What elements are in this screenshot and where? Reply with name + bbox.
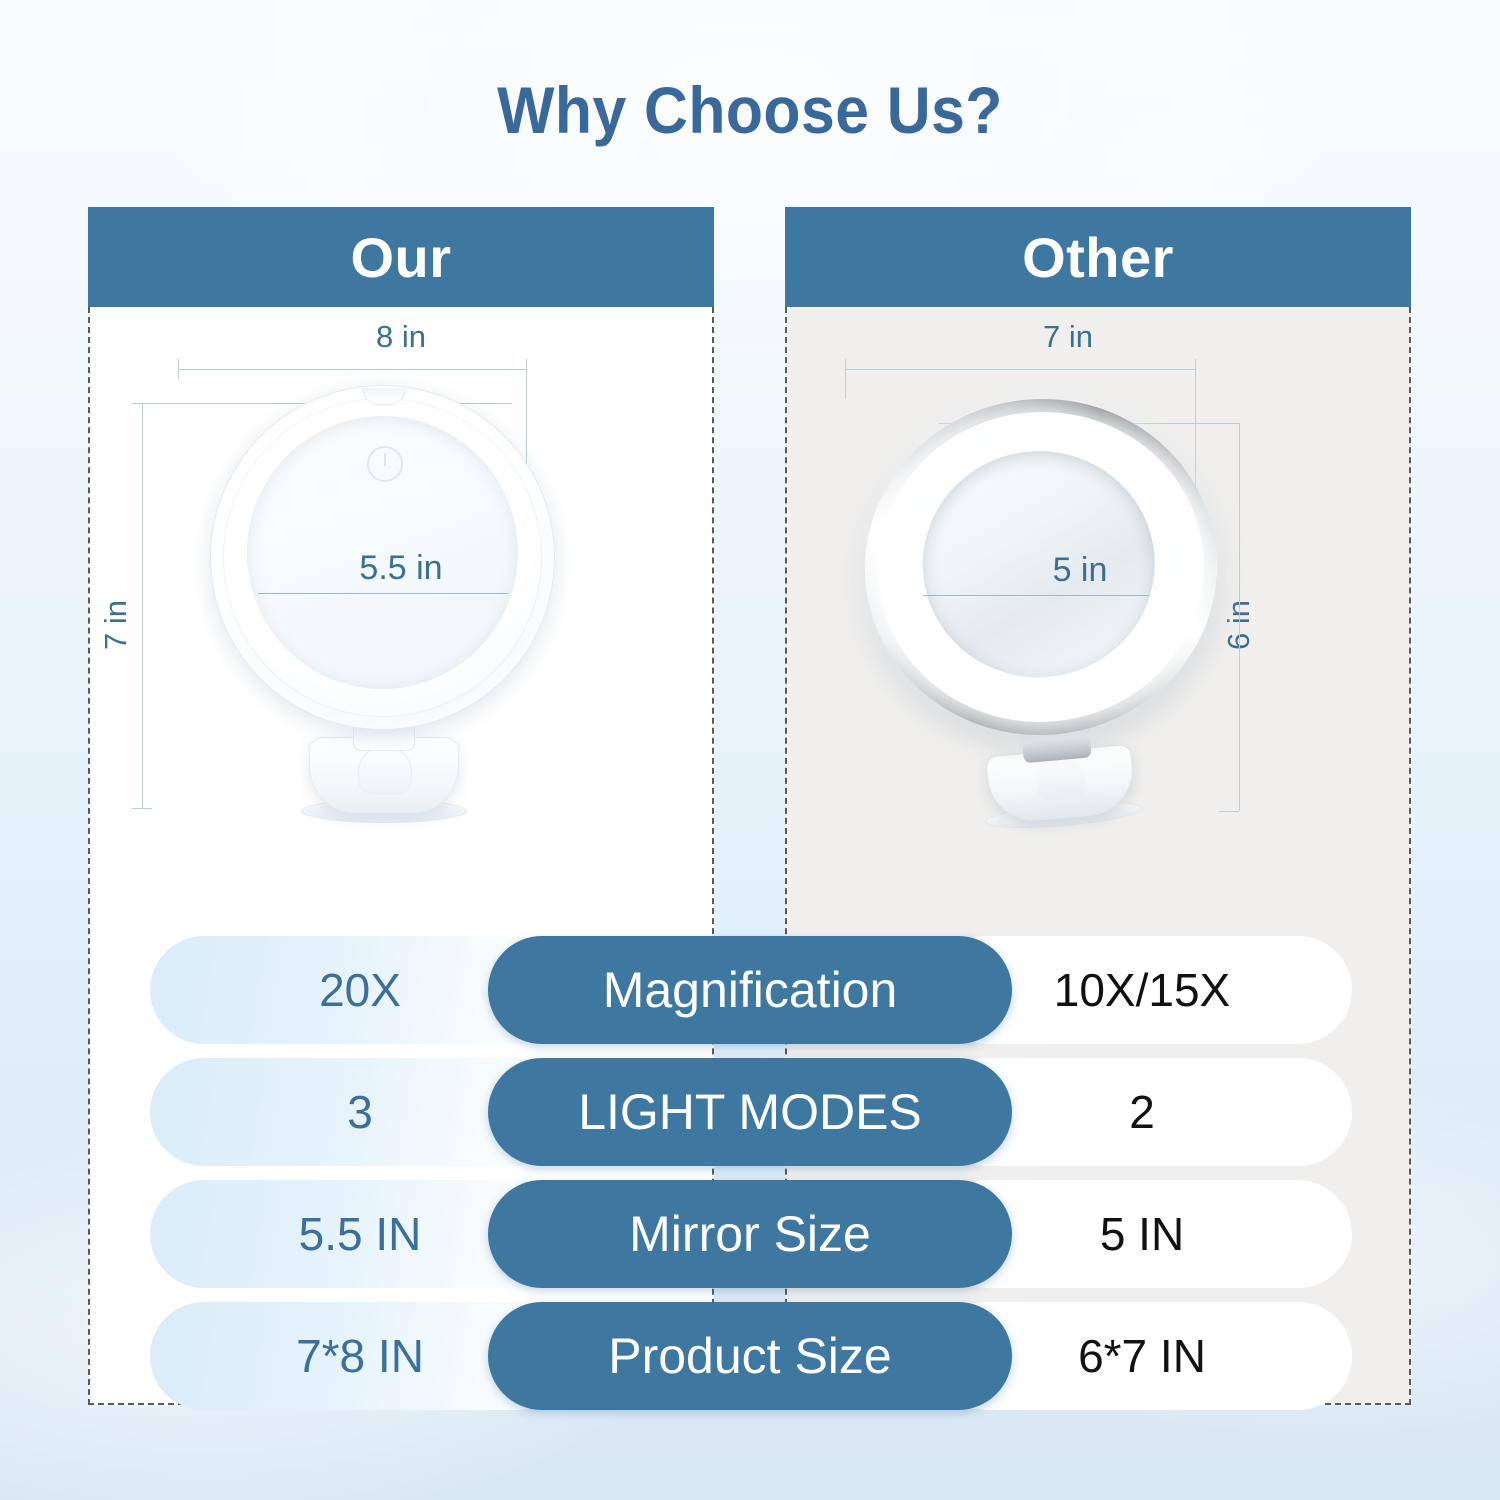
feature-label-pill: Mirror Size xyxy=(488,1180,1012,1288)
our-product-stage: 8 in 7 in xyxy=(90,307,712,937)
other-height-tick-bottom xyxy=(1219,811,1239,812)
feature-label-pill: Product Size xyxy=(488,1302,1012,1410)
panel-other-header: Other xyxy=(785,207,1411,307)
comparison-row: 20XMagnification10X/15X xyxy=(0,936,1500,1044)
comparison-row: 3LIGHT MODES2 xyxy=(0,1058,1500,1166)
other-product-stage: 7 in 6 in 5 in xyxy=(787,307,1409,937)
other-height-line xyxy=(1239,423,1240,811)
other-mirror-size-label: 5 in xyxy=(751,551,1409,590)
other-width-edge-left xyxy=(845,369,846,399)
our-width-line xyxy=(178,369,526,370)
comparison-table: 20XMagnification10X/15X3LIGHT MODES25.5 … xyxy=(0,936,1500,1424)
our-mirror-size-line xyxy=(258,593,508,594)
other-mirror-size-line xyxy=(923,595,1149,596)
feature-label-pill: Magnification xyxy=(488,936,1012,1044)
our-height-tick-bottom xyxy=(132,808,152,809)
feature-label-pill: LIGHT MODES xyxy=(488,1058,1012,1166)
our-width-label: 8 in xyxy=(90,319,712,355)
comparison-row: 7*8 INProduct Size6*7 IN xyxy=(0,1302,1500,1410)
other-width-label: 7 in xyxy=(727,319,1409,355)
other-width-line xyxy=(845,369,1195,370)
panel-our-header: Our xyxy=(88,207,714,307)
our-width-tick-left xyxy=(178,359,179,379)
power-button-icon[interactable] xyxy=(367,446,403,482)
comparison-row: 5.5 INMirror Size5 IN xyxy=(0,1180,1500,1288)
page-title: Why Choose Us? xyxy=(60,72,1440,148)
our-height-line xyxy=(142,403,143,808)
our-mirror-size-label: 5.5 in xyxy=(90,549,712,588)
